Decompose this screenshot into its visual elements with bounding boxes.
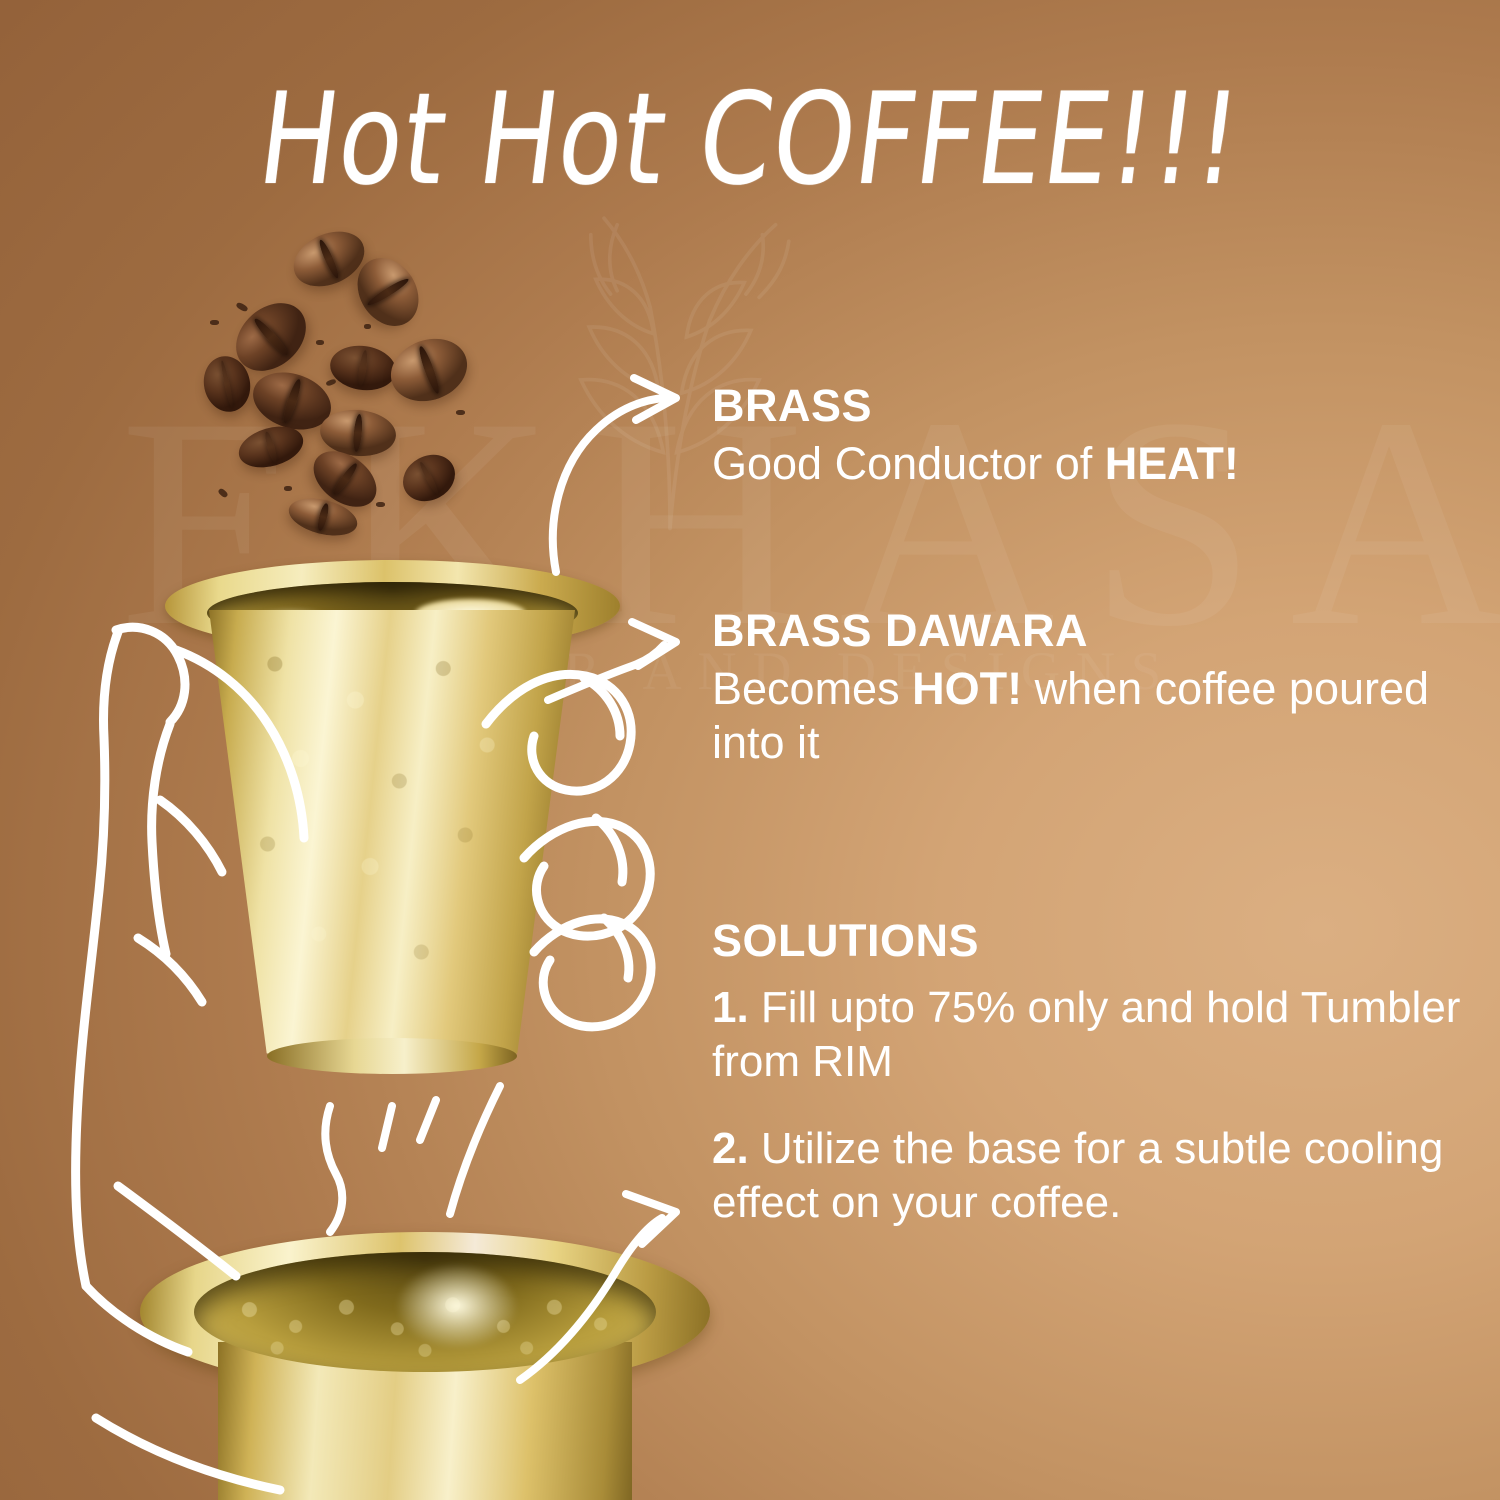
solutions-section: SOLUTIONS 1. Fill upto 75% only and hold… (712, 915, 1482, 1264)
motion-marks (325, 1086, 500, 1232)
callout-dawara-body-bold: HOT! (912, 663, 1022, 714)
callout-brass: BRASS Good Conductor of HEAT! (712, 382, 1239, 491)
callout-brass-dawara: BRASS DAWARA Becomes HOT! when coffee po… (712, 607, 1500, 770)
poster-canvas: EKHASA DECOR AND DESIGNS Hot Hot COFF (0, 0, 1500, 1500)
solutions-heading: SOLUTIONS (712, 915, 1482, 967)
callout-brass-heading: BRASS (712, 382, 1239, 431)
solution-item-2-text: Utilize the base for a subtle cooling ef… (712, 1124, 1443, 1227)
arrow-to-brass (553, 378, 676, 572)
solution-item-1-number: 1. (712, 983, 749, 1032)
callout-brass-body: Good Conductor of HEAT! (712, 437, 1239, 491)
solution-item-2: 2. Utilize the base for a subtle cooling… (712, 1122, 1482, 1229)
callout-brass-body-bold: HEAT! (1105, 438, 1239, 489)
callout-dawara-body-prefix: Becomes (712, 663, 912, 714)
solution-item-1: 1. Fill upto 75% only and hold Tumbler f… (712, 981, 1482, 1088)
arrow-to-solutions (520, 1194, 676, 1380)
callout-dawara-heading: BRASS DAWARA (712, 607, 1500, 656)
callout-dawara-body: Becomes HOT! when coffee poured into it (712, 662, 1500, 770)
hand-fingers-line-art (486, 674, 651, 1026)
solution-item-1-text: Fill upto 75% only and hold Tumbler from… (712, 983, 1460, 1086)
solution-item-2-number: 2. (712, 1124, 749, 1173)
callout-brass-body-prefix: Good Conductor of (712, 438, 1105, 489)
hand-line-art (76, 627, 304, 1490)
